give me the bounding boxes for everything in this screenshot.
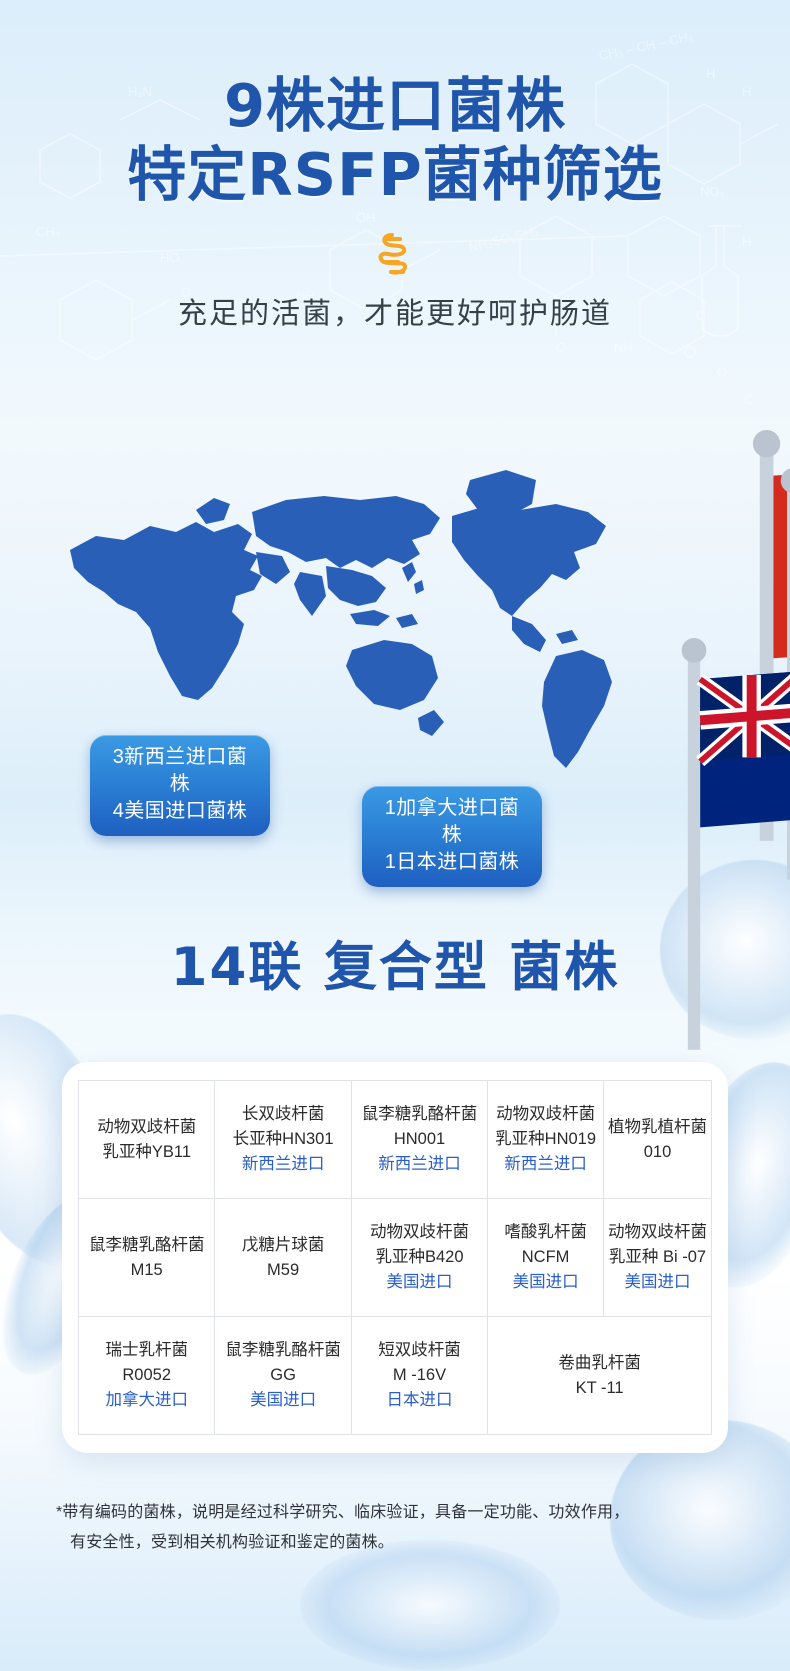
strain-name-line: 戊糖片球菌 <box>219 1233 346 1258</box>
callout-right-line2: 1日本进口菌株 <box>378 849 526 876</box>
table-cell: 动物双歧杆菌乳亚种 Bi -07美国进口 <box>603 1199 711 1317</box>
table-cell: 鼠李糖乳酪杆菌M15 <box>79 1199 215 1317</box>
callout-right-line1: 1加拿大进口菌株 <box>378 795 526 849</box>
table-cell: 卷曲乳杆菌KT -11 <box>488 1317 712 1435</box>
footnote: *带有编码的菌株，说明是经过科学研究、临床验证，具备一定功能、功效作用， 有安全… <box>56 1498 746 1558</box>
strain-name-line: 动物双歧杆菌 <box>83 1115 210 1140</box>
table-cell: 嗜酸乳杆菌NCFM美国进口 <box>488 1199 604 1317</box>
callout-left-line1: 3新西兰进口菌株 <box>106 744 254 798</box>
strain-name-line: KT -11 <box>492 1376 707 1401</box>
strain-name-line: 瑞士乳杆菌 <box>83 1338 210 1363</box>
footnote-line1: *带有编码的菌株，说明是经过科学研究、临床验证，具备一定功能、功效作用， <box>56 1498 746 1528</box>
strain-name-line: HN001 <box>356 1127 483 1152</box>
page-header: 9株进口菌株 特定RSFP菌种筛选 充足的活菌，才能更好呵护肠道 <box>0 0 790 332</box>
svg-text:NH: NH <box>614 340 633 355</box>
strain-name-line: GG <box>219 1363 346 1388</box>
strain-origin-label: 美国进口 <box>608 1270 707 1295</box>
table-cell: 鼠李糖乳酪杆菌HN001新西兰进口 <box>351 1081 487 1199</box>
strain-name-line: 乳亚种B420 <box>356 1245 483 1270</box>
page-title-line2: 特定RSFP菌种筛选 <box>0 140 790 210</box>
callout-left-line2: 4美国进口菌株 <box>106 798 254 825</box>
strain-name-line: 010 <box>608 1140 707 1165</box>
strain-origin-label: 新西兰进口 <box>356 1152 483 1177</box>
strain-name-line: 动物双歧杆菌 <box>608 1220 707 1245</box>
strain-name-line: 动物双歧杆菌 <box>492 1102 599 1127</box>
strain-origin-label: 新西兰进口 <box>219 1152 346 1177</box>
strain-origin-label: 新西兰进口 <box>492 1152 599 1177</box>
strain-name-line: 乳亚种HN019 <box>492 1127 599 1152</box>
table-cell: 瑞士乳杆菌R0052加拿大进口 <box>79 1317 215 1435</box>
table-cell: 动物双歧杆菌乳亚种B420美国进口 <box>351 1199 487 1317</box>
strain-name-line: 乳亚种 Bi -07 <box>608 1245 707 1270</box>
strain-name-line: 鼠李糖乳酪杆菌 <box>356 1102 483 1127</box>
table-cell: 鼠李糖乳酪杆菌GG美国进口 <box>215 1317 351 1435</box>
strain-name-line: R0052 <box>83 1363 210 1388</box>
strain-name-line: 长亚种HN301 <box>219 1127 346 1152</box>
strains-table-body: 动物双歧杆菌乳亚种YB11长双歧杆菌长亚种HN301新西兰进口鼠李糖乳酪杆菌HN… <box>79 1081 712 1435</box>
table-cell: 短双歧杆菌M -16V日本进口 <box>351 1317 487 1435</box>
strain-name-line: 短双歧杆菌 <box>356 1338 483 1363</box>
strain-name-line: 嗜酸乳杆菌 <box>492 1220 599 1245</box>
strain-origin-label: 美国进口 <box>492 1270 599 1295</box>
table-cell: 动物双歧杆菌乳亚种HN019新西兰进口 <box>488 1081 604 1199</box>
strains-table-card: 动物双歧杆菌乳亚种YB11长双歧杆菌长亚种HN301新西兰进口鼠李糖乳酪杆菌HN… <box>62 1062 728 1453</box>
strain-origin-label: 美国进口 <box>219 1388 346 1413</box>
strain-name-line: M15 <box>83 1258 210 1283</box>
strain-name-line: NCFM <box>492 1245 599 1270</box>
strain-origin-label: 加拿大进口 <box>83 1388 210 1413</box>
strain-name-line: 卷曲乳杆菌 <box>492 1351 707 1376</box>
strain-name-line: 植物乳植杆菌 <box>608 1115 707 1140</box>
page-title-line1: 9株进口菌株 <box>0 72 790 140</box>
callout-right[interactable]: 1加拿大进口菌株 1日本进口菌株 <box>362 786 542 887</box>
bacteria-blob-4 <box>300 1540 560 1670</box>
table-row: 瑞士乳杆菌R0052加拿大进口鼠李糖乳酪杆菌GG美国进口短双歧杆菌M -16V日… <box>79 1317 712 1435</box>
page-tagline: 充足的活菌，才能更好呵护肠道 <box>0 290 790 332</box>
strain-name-line: 鼠李糖乳酪杆菌 <box>83 1233 210 1258</box>
callout-left[interactable]: 3新西兰进口菌株 4美国进口菌株 <box>90 735 270 836</box>
strain-origin-label: 日本进口 <box>356 1388 483 1413</box>
table-row: 动物双歧杆菌乳亚种YB11长双歧杆菌长亚种HN301新西兰进口鼠李糖乳酪杆菌HN… <box>79 1081 712 1199</box>
strain-name-line: 鼠李糖乳酪杆菌 <box>219 1338 346 1363</box>
table-cell: 长双歧杆菌长亚种HN301新西兰进口 <box>215 1081 351 1199</box>
strain-name-line: M59 <box>219 1258 346 1283</box>
strain-name-line: 长双歧杆菌 <box>219 1102 346 1127</box>
intestine-icon <box>0 228 790 280</box>
svg-text:O: O <box>556 340 566 355</box>
strain-origin-label: 美国进口 <box>356 1270 483 1295</box>
table-row: 鼠李糖乳酪杆菌M15戊糖片球菌M59动物双歧杆菌乳亚种B420美国进口嗜酸乳杆菌… <box>79 1199 712 1317</box>
section-heading: 14联 复合型 菌株 <box>0 925 790 1001</box>
table-cell: 动物双歧杆菌乳亚种YB11 <box>79 1081 215 1199</box>
strain-name-line: M -16V <box>356 1363 483 1388</box>
footnote-line2: 有安全性，受到相关机构验证和鉴定的菌株。 <box>56 1528 746 1558</box>
strain-name-line: 动物双歧杆菌 <box>356 1220 483 1245</box>
strain-name-line: 乳亚种YB11 <box>83 1140 210 1165</box>
strains-table: 动物双歧杆菌乳亚种YB11长双歧杆菌长亚种HN301新西兰进口鼠李糖乳酪杆菌HN… <box>78 1080 712 1435</box>
table-cell: 戊糖片球菌M59 <box>215 1199 351 1317</box>
table-cell: 植物乳植杆菌010 <box>603 1081 711 1199</box>
